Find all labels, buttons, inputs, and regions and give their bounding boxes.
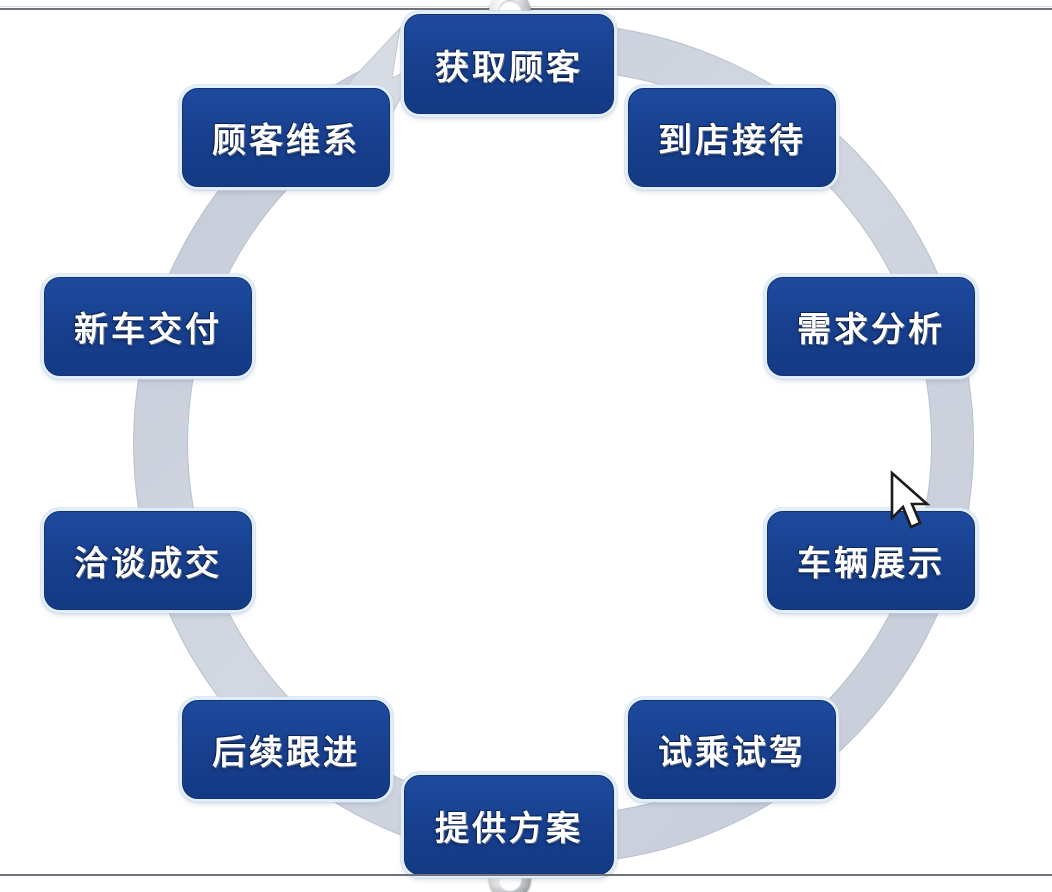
page-bottom-rule <box>0 874 1052 876</box>
mouse-cursor-icon <box>888 470 934 532</box>
node-label: 到店接待 <box>658 113 806 162</box>
node-new-car-delivery[interactable]: 新车交付 <box>44 277 252 376</box>
node-label: 需求分析 <box>797 302 945 351</box>
node-label: 洽谈成交 <box>74 536 222 585</box>
node-customer-retention[interactable]: 顾客维系 <box>182 88 390 187</box>
node-vehicle-display[interactable]: 车辆展示 <box>767 511 975 610</box>
node-label: 新车交付 <box>74 302 222 351</box>
node-label: 提供方案 <box>435 801 583 850</box>
node-needs-analysis[interactable]: 需求分析 <box>767 277 975 376</box>
node-label: 后续跟进 <box>212 725 360 774</box>
node-label: 试乘试驾 <box>658 725 806 774</box>
node-provide-proposal[interactable]: 提供方案 <box>404 775 614 875</box>
node-acquire-customer[interactable]: 获取顾客 <box>404 14 614 114</box>
node-label: 车辆展示 <box>797 536 945 585</box>
node-store-reception[interactable]: 到店接待 <box>628 88 836 187</box>
node-label: 顾客维系 <box>212 113 360 162</box>
node-follow-up[interactable]: 后续跟进 <box>182 700 390 799</box>
node-label: 获取顾客 <box>435 40 583 89</box>
slide-canvas: 获取顾客 到店接待 需求分析 车辆展示 试乘试驾 提供方案 后续跟进 洽谈成交 … <box>0 0 1052 892</box>
node-test-drive[interactable]: 试乘试驾 <box>628 700 836 799</box>
node-negotiation-deal[interactable]: 洽谈成交 <box>44 511 252 610</box>
cycle-ring <box>0 0 1052 892</box>
